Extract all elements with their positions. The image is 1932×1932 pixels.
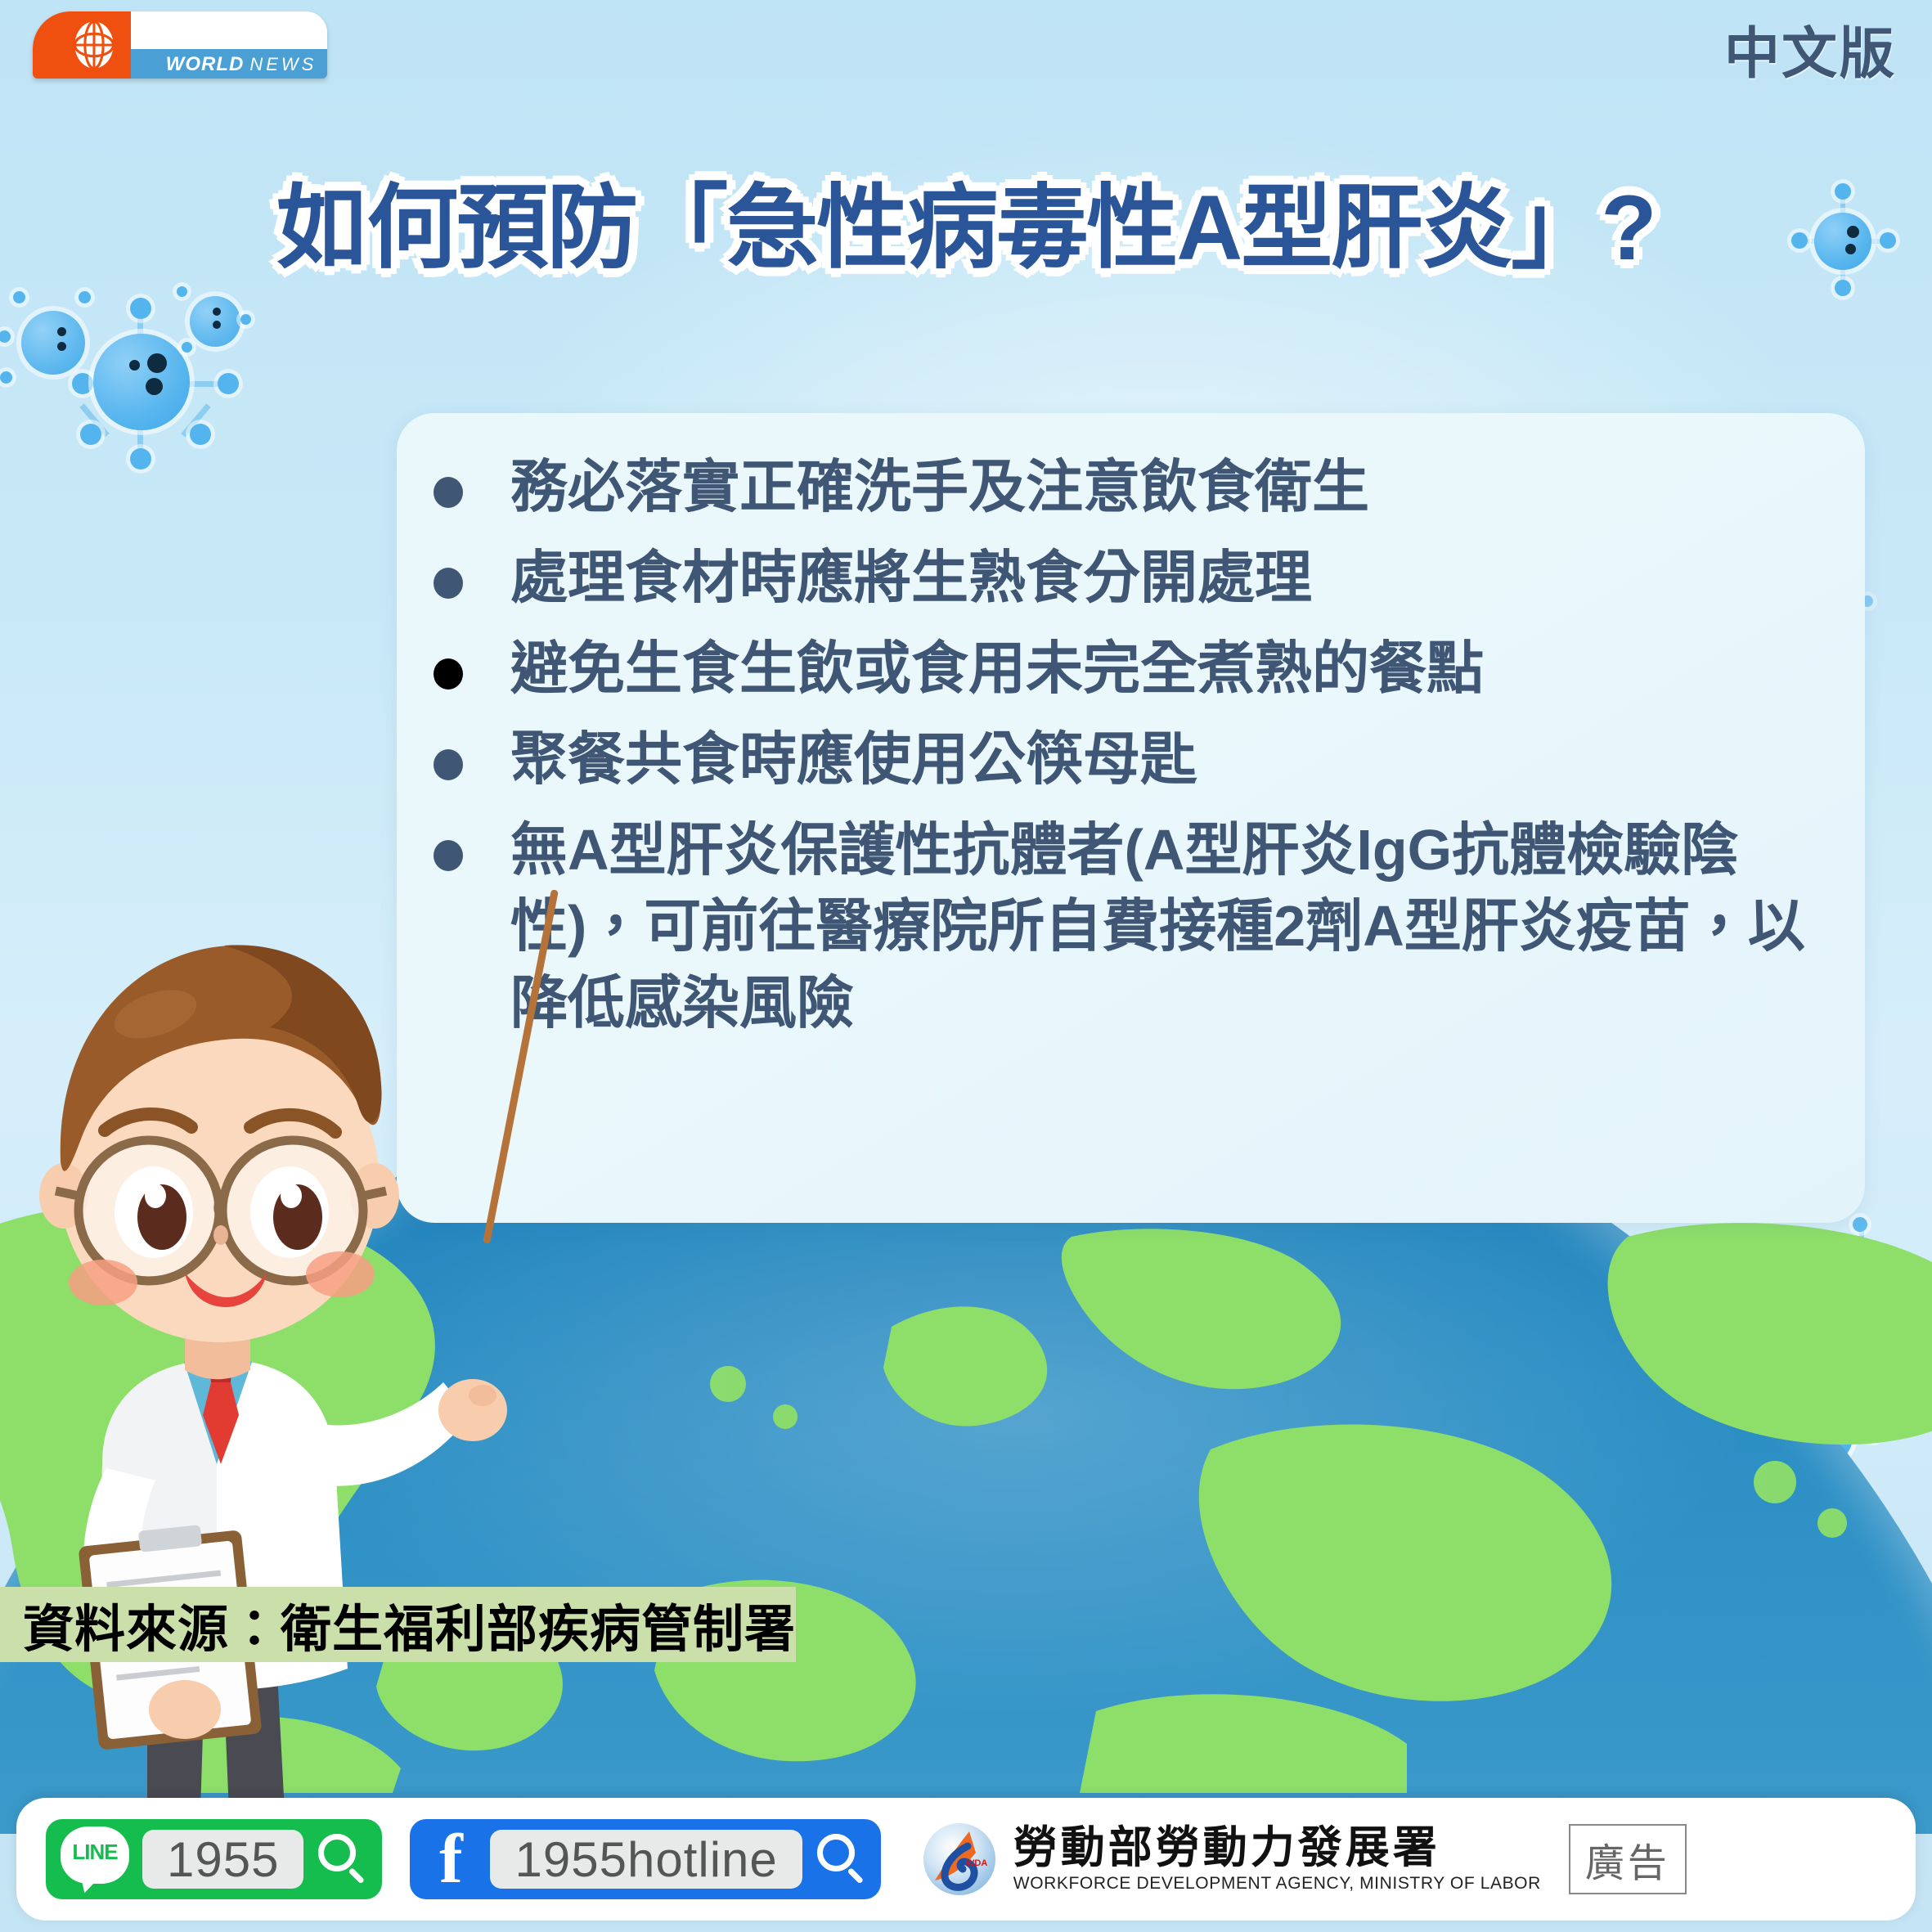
search-icon[interactable]	[815, 1834, 866, 1885]
list-item-text: 處理食材時應將生熟食分開處理	[510, 540, 1312, 616]
list-item: 無A型肝炎保護性抗體者(A型肝炎IgG抗體檢驗陰性)，可前往醫療院所自費接種2劑…	[434, 812, 1840, 1040]
wda-logo-icon: WDA	[920, 1820, 999, 1898]
language-badge[interactable]: 中文版	[1724, 8, 1896, 89]
list-item: 避免生食生飲或食用未完全煮熟的餐點	[434, 631, 1840, 707]
list-item-text: 無A型肝炎保護性抗體者(A型肝炎IgG抗體檢驗陰性)，可前往醫療院所自費接種2劑…	[510, 812, 1835, 1040]
agency-block: WDA 勞動部勞動力發展署 WORKFORCE DEVELOPMENT AGEN…	[920, 1820, 1687, 1898]
page-title: 如何預防「急性病毒性A型肝炎」?	[0, 154, 1932, 286]
logo-word-world: WORLD	[166, 53, 245, 76]
list-item-text: 務必落實正確洗手及注意飲食衛生	[510, 449, 1369, 525]
facebook-contact-button[interactable]: f 1955hotline	[410, 1819, 880, 1899]
prevention-list: 務必落實正確洗手及注意飲食衛生 處理食材時應將生熟食分開處理 避免生食生飲或食用…	[434, 449, 1840, 1041]
list-item-text: 聚餐共食時應使用公筷母匙	[510, 721, 1197, 798]
globe-icon	[69, 20, 119, 70]
virus-cluster-left	[33, 303, 262, 483]
line-icon-label: LINE	[61, 1840, 129, 1865]
agency-name-cn: 勞動部勞動力發展署	[1013, 1825, 1541, 1871]
footer-bar: LINE 1955 f 1955hotline WDA	[16, 1798, 1916, 1921]
doctor-illustration	[25, 892, 548, 1840]
bullet-marker	[434, 568, 463, 599]
list-item-text: 避免生食生飲或食用未完全煮熟的餐點	[510, 631, 1484, 707]
doctor-character	[25, 892, 548, 1840]
search-icon[interactable]	[317, 1834, 367, 1885]
content-card: 務必落實正確洗手及注意飲食衛生 處理食材時應將生熟食分開處理 避免生食生飲或食用…	[397, 413, 1865, 1223]
poster-canvas: WORLD NEWS 中文版 如何預防「急性病毒性A型肝炎」?	[0, 0, 1932, 1932]
bullet-marker	[434, 749, 463, 780]
facebook-page-value[interactable]: 1955hotline	[490, 1830, 802, 1889]
logo-word-news: NEWS	[249, 54, 317, 75]
ad-badge: 廣告	[1569, 1824, 1687, 1894]
bullet-marker	[434, 840, 463, 871]
line-contact-button[interactable]: LINE 1955	[46, 1819, 382, 1899]
world-news-logo: WORLD NEWS	[33, 11, 327, 79]
list-item: 處理食材時應將生熟食分開處理	[434, 540, 1840, 616]
source-bar: 資料來源：衛生福利部疾病管制署	[0, 1587, 796, 1662]
agency-name-en: WORKFORCE DEVELOPMENT AGENCY, MINISTRY O…	[1013, 1874, 1541, 1894]
line-id-value[interactable]: 1955	[142, 1830, 303, 1889]
virus-top-right	[1791, 188, 1898, 294]
facebook-icon: f	[425, 1827, 477, 1890]
logo-white-shape	[131, 11, 327, 49]
svg-text:WDA: WDA	[966, 1858, 987, 1868]
agency-name-block: 勞動部勞動力發展署 WORKFORCE DEVELOPMENT AGENCY, …	[1013, 1825, 1541, 1894]
list-item: 務必落實正確洗手及注意飲食衛生	[434, 449, 1840, 525]
bullet-marker	[434, 658, 463, 690]
bullet-marker	[434, 477, 463, 508]
line-icon: LINE	[61, 1826, 129, 1892]
logo-wordmark: WORLD NEWS	[155, 51, 327, 78]
list-item: 聚餐共食時應使用公筷母匙	[434, 721, 1840, 798]
